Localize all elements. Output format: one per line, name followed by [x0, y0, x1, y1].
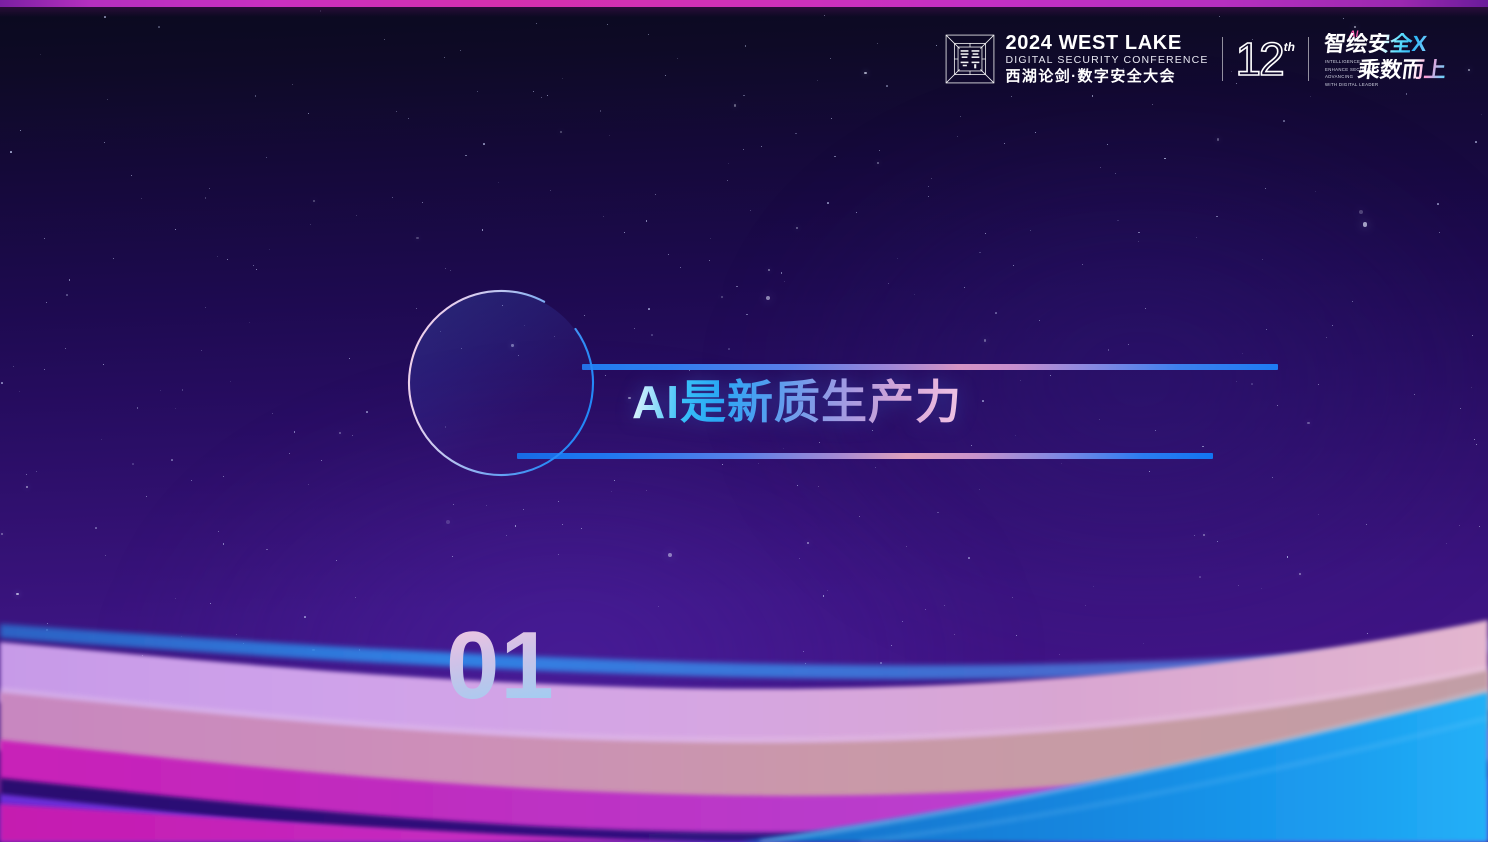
- star: [355, 597, 356, 598]
- logo-divider-1: [1222, 37, 1223, 81]
- star: [1117, 220, 1119, 222]
- star: [36, 471, 37, 472]
- star: [416, 237, 418, 239]
- star: [269, 249, 270, 250]
- star: [600, 110, 602, 112]
- star: [758, 463, 759, 464]
- star: [1446, 543, 1447, 544]
- star: [230, 381, 231, 382]
- star: [1414, 394, 1415, 395]
- star: [1439, 232, 1440, 233]
- star: [141, 198, 142, 199]
- star: [243, 643, 244, 644]
- star: [1265, 188, 1266, 189]
- top-accent-strip: [0, 0, 1488, 7]
- star: [445, 268, 446, 269]
- star: [968, 557, 970, 559]
- west-lake-seal-icon: [944, 33, 996, 85]
- star: [648, 34, 649, 35]
- star: [864, 72, 866, 74]
- star: [1039, 320, 1040, 321]
- star: [979, 252, 981, 254]
- star: [1107, 144, 1108, 145]
- star: [1332, 325, 1333, 326]
- star: [721, 296, 723, 298]
- star: [46, 302, 47, 303]
- star: [634, 328, 635, 329]
- star: [1128, 344, 1129, 345]
- star: [709, 260, 710, 261]
- star: [160, 390, 161, 391]
- star: [784, 281, 786, 283]
- star: [20, 130, 21, 131]
- star: [925, 609, 926, 610]
- star: [646, 490, 647, 491]
- star: [26, 486, 28, 488]
- star: [581, 528, 583, 530]
- star: [236, 634, 237, 635]
- star: [560, 131, 562, 133]
- star: [1318, 384, 1319, 385]
- star: [957, 136, 958, 137]
- star: [728, 163, 729, 164]
- star: [40, 54, 41, 55]
- star: [796, 227, 798, 229]
- star: [886, 85, 888, 87]
- star: [308, 113, 309, 114]
- star: [483, 143, 485, 145]
- star: [205, 197, 207, 199]
- star: [1307, 422, 1309, 424]
- star: [1194, 535, 1195, 536]
- star: [171, 459, 173, 461]
- star: [745, 45, 747, 47]
- star: [803, 651, 804, 652]
- star: [105, 555, 106, 556]
- star: [253, 265, 254, 266]
- star: [1035, 132, 1036, 133]
- star: [137, 407, 139, 409]
- star: [646, 220, 648, 222]
- conference-title-en-secondary: DIGITAL SECURITY CONFERENCE: [1006, 54, 1209, 67]
- star: [558, 554, 559, 555]
- star: [944, 605, 945, 606]
- star: [1011, 96, 1012, 97]
- star: [1481, 114, 1482, 115]
- star: [1277, 405, 1278, 406]
- star: [182, 389, 184, 391]
- star: [336, 560, 337, 561]
- star: [95, 527, 97, 529]
- star: [982, 400, 984, 402]
- star: [356, 215, 357, 216]
- star: [1009, 671, 1010, 672]
- star: [558, 501, 559, 502]
- star: [877, 162, 879, 164]
- star: [1, 382, 3, 384]
- top-accent-strip-shadow: [0, 7, 1488, 17]
- star: [964, 287, 965, 288]
- star: [1020, 380, 1021, 381]
- star: [515, 525, 517, 527]
- star: [1196, 237, 1197, 238]
- star: [209, 188, 210, 189]
- star: [450, 270, 451, 271]
- star: [797, 485, 798, 486]
- star: [304, 616, 306, 618]
- star: [877, 43, 878, 44]
- theme-line-1: 智绘安全X: [1323, 33, 1428, 55]
- edition-suffix: th: [1284, 40, 1295, 54]
- star: [734, 104, 736, 106]
- star: [408, 118, 409, 119]
- star: [104, 142, 105, 143]
- star: [931, 178, 932, 179]
- star: [1326, 337, 1327, 338]
- star: [113, 258, 114, 259]
- star: [819, 442, 820, 443]
- star: [308, 484, 309, 485]
- star: [936, 45, 937, 46]
- star: [142, 655, 143, 656]
- star: [805, 663, 806, 664]
- star: [1425, 636, 1427, 638]
- star: [65, 348, 66, 349]
- star: [541, 97, 542, 98]
- star: [13, 366, 14, 367]
- star: [985, 233, 986, 234]
- star: [856, 212, 857, 213]
- star: [628, 397, 630, 399]
- star: [1437, 203, 1439, 205]
- star: [452, 556, 453, 557]
- edition-number: 12: [1236, 38, 1283, 80]
- star: [131, 175, 132, 176]
- star: [834, 156, 836, 158]
- star: [823, 595, 825, 597]
- star: [795, 133, 797, 135]
- star: [614, 480, 615, 481]
- star: [1460, 408, 1462, 410]
- theme-x-mark: X: [1411, 31, 1429, 56]
- star: [1013, 265, 1014, 266]
- star: [562, 524, 563, 525]
- star: [310, 224, 311, 225]
- conference-edition: 12 th: [1236, 38, 1296, 80]
- star: [807, 542, 809, 544]
- star: [1115, 173, 1116, 174]
- star: [210, 603, 211, 604]
- logo-divider-2: [1308, 37, 1309, 81]
- star: [218, 531, 219, 532]
- star: [266, 157, 267, 158]
- star: [249, 322, 250, 323]
- star: [1261, 588, 1262, 589]
- star: [506, 535, 507, 536]
- star: [605, 375, 606, 376]
- star: [349, 358, 350, 359]
- star: [175, 408, 177, 410]
- star: [1082, 264, 1083, 265]
- star: [1203, 534, 1205, 536]
- star: [1199, 576, 1201, 578]
- star: [223, 476, 224, 477]
- star: [132, 463, 134, 465]
- section-title: AI是新质生产力: [632, 375, 962, 429]
- star: [217, 256, 218, 257]
- star: [26, 474, 27, 475]
- star: [1138, 232, 1140, 234]
- star: [44, 238, 45, 239]
- star: [1471, 387, 1472, 388]
- star: [665, 75, 666, 76]
- star: [1217, 138, 1219, 140]
- star: [799, 558, 800, 559]
- star: [971, 445, 972, 446]
- star: [550, 190, 551, 191]
- star: [1283, 120, 1285, 122]
- star: [1468, 69, 1470, 71]
- star: [648, 308, 650, 310]
- star: [677, 58, 678, 59]
- star: [1262, 259, 1263, 260]
- star: [103, 364, 104, 365]
- star: [830, 58, 831, 59]
- star: [1202, 446, 1204, 448]
- star: [294, 431, 296, 433]
- star: [655, 194, 656, 195]
- star: [827, 202, 829, 204]
- star: [1217, 541, 1218, 542]
- star: [46, 629, 48, 631]
- star: [16, 593, 18, 595]
- star: [607, 24, 608, 25]
- star: [453, 504, 454, 505]
- star: [1352, 301, 1353, 302]
- star: [339, 432, 341, 434]
- section-number-circle: 01: [406, 288, 596, 478]
- star: [668, 254, 669, 255]
- conference-theme-lockup: AI 智绘安全X INTELLIGENCE ENHANCE SECURITY A…: [1322, 31, 1464, 87]
- star: [888, 283, 889, 284]
- star: [312, 649, 314, 651]
- star: [960, 116, 961, 117]
- star: [352, 435, 353, 436]
- star: [366, 411, 368, 413]
- star: [256, 269, 257, 270]
- star: [872, 430, 873, 431]
- star: [289, 453, 290, 454]
- star: [19, 391, 20, 392]
- star: [1366, 524, 1367, 525]
- star: [1238, 585, 1239, 586]
- star: [859, 516, 860, 517]
- star: [743, 149, 744, 150]
- star: [384, 39, 385, 40]
- star: [1310, 96, 1311, 97]
- star: [272, 413, 273, 414]
- theme-line-2: 乘数而上: [1357, 59, 1448, 81]
- star: [1475, 141, 1477, 143]
- star: [736, 286, 738, 288]
- conference-wordmark: 2024 WEST LAKE DIGITAL SECURITY CONFEREN…: [1006, 33, 1209, 85]
- star: [979, 489, 980, 490]
- star: [562, 78, 563, 79]
- star: [227, 259, 228, 260]
- star: [1143, 643, 1144, 644]
- star: [624, 232, 625, 233]
- star: [746, 314, 748, 316]
- bottom-ribbon-waves: [0, 542, 1488, 842]
- star: [984, 339, 986, 341]
- star: [1061, 463, 1062, 464]
- star: [761, 146, 762, 147]
- star: [1367, 633, 1369, 635]
- star: [1236, 381, 1237, 382]
- star: [611, 491, 612, 492]
- conference-title-en-primary: 2024 WEST LAKE: [1006, 33, 1209, 54]
- section-circle-ring: [406, 288, 596, 478]
- star: [1476, 444, 1477, 445]
- star: [359, 649, 361, 651]
- star: [1012, 597, 1013, 598]
- star: [1315, 191, 1316, 192]
- star: [422, 202, 423, 203]
- star: [1287, 556, 1289, 558]
- star: [1155, 430, 1156, 431]
- star: [66, 294, 68, 296]
- star: [827, 590, 828, 591]
- star: [906, 546, 907, 547]
- heading-rule-bottom: [517, 453, 1213, 459]
- star: [223, 543, 225, 545]
- star: [465, 155, 467, 157]
- star: [1016, 635, 1017, 636]
- star: [1363, 222, 1367, 226]
- theme-line-1-text: 智绘安全: [1323, 31, 1414, 56]
- star: [1359, 210, 1363, 214]
- star: [10, 151, 12, 153]
- star: [498, 182, 499, 183]
- star: [547, 95, 548, 96]
- conference-logo-lockup: 2024 WEST LAKE DIGITAL SECURITY CONFEREN…: [944, 30, 1464, 88]
- star: [781, 272, 783, 274]
- star: [205, 307, 206, 308]
- star: [891, 645, 892, 646]
- star: [831, 118, 832, 119]
- star: [1474, 439, 1475, 440]
- star: [1, 533, 3, 535]
- star: [1406, 93, 1408, 95]
- star: [477, 91, 478, 92]
- star: [1085, 605, 1086, 606]
- conference-title-cn: 西湖论剑·数字安全大会: [1006, 68, 1209, 85]
- star: [609, 135, 610, 136]
- star: [533, 91, 534, 92]
- star: [392, 197, 393, 198]
- star: [1299, 573, 1301, 575]
- star: [897, 258, 898, 259]
- star: [523, 509, 524, 510]
- star: [914, 294, 915, 295]
- star: [44, 369, 46, 371]
- star: [937, 512, 939, 514]
- star: [1472, 335, 1473, 336]
- star: [1149, 471, 1150, 472]
- star: [1343, 18, 1344, 19]
- star: [880, 662, 882, 664]
- star: [1152, 104, 1153, 105]
- star: [181, 636, 182, 637]
- star: [1251, 383, 1253, 385]
- star: [444, 57, 445, 58]
- star: [1266, 329, 1267, 330]
- star: [47, 623, 48, 624]
- star: [486, 505, 487, 506]
- star: [727, 180, 728, 181]
- star: [668, 553, 672, 557]
- star: [1092, 95, 1094, 97]
- star: [928, 196, 929, 197]
- star: [292, 84, 293, 85]
- star: [818, 486, 819, 487]
- star: [482, 229, 484, 231]
- star: [1030, 230, 1031, 231]
- star: [954, 634, 955, 635]
- star: [1318, 514, 1319, 515]
- star: [158, 26, 160, 28]
- star: [766, 296, 770, 300]
- star: [1138, 241, 1139, 242]
- star: [175, 598, 176, 599]
- star: [396, 111, 397, 112]
- star: [1004, 143, 1005, 144]
- star: [1164, 158, 1166, 160]
- star: [313, 200, 315, 202]
- star: [1100, 167, 1101, 168]
- star: [1216, 216, 1218, 218]
- star: [1145, 308, 1146, 309]
- star: [1108, 349, 1110, 351]
- star: [722, 464, 724, 466]
- star: [1242, 353, 1243, 354]
- star: [201, 350, 202, 351]
- star: [1093, 586, 1094, 587]
- star: [817, 80, 818, 81]
- star: [658, 606, 659, 607]
- star: [321, 460, 322, 461]
- star: [768, 269, 770, 271]
- star: [460, 50, 461, 51]
- star: [175, 229, 176, 230]
- star: [101, 439, 102, 440]
- star: [728, 348, 730, 350]
- star: [928, 186, 929, 187]
- star: [783, 448, 784, 449]
- heading-rule-top: [582, 364, 1278, 370]
- star: [680, 267, 681, 268]
- star: [266, 549, 268, 551]
- section-number: 01: [446, 618, 646, 714]
- presentation-slide: 01 AI是新质生产力 AI是新质生产力: [0, 0, 1488, 842]
- star: [1459, 525, 1460, 526]
- star: [603, 216, 604, 217]
- star: [1479, 526, 1481, 528]
- star: [743, 95, 745, 97]
- star: [1272, 477, 1273, 478]
- star: [710, 238, 712, 240]
- star: [750, 210, 751, 211]
